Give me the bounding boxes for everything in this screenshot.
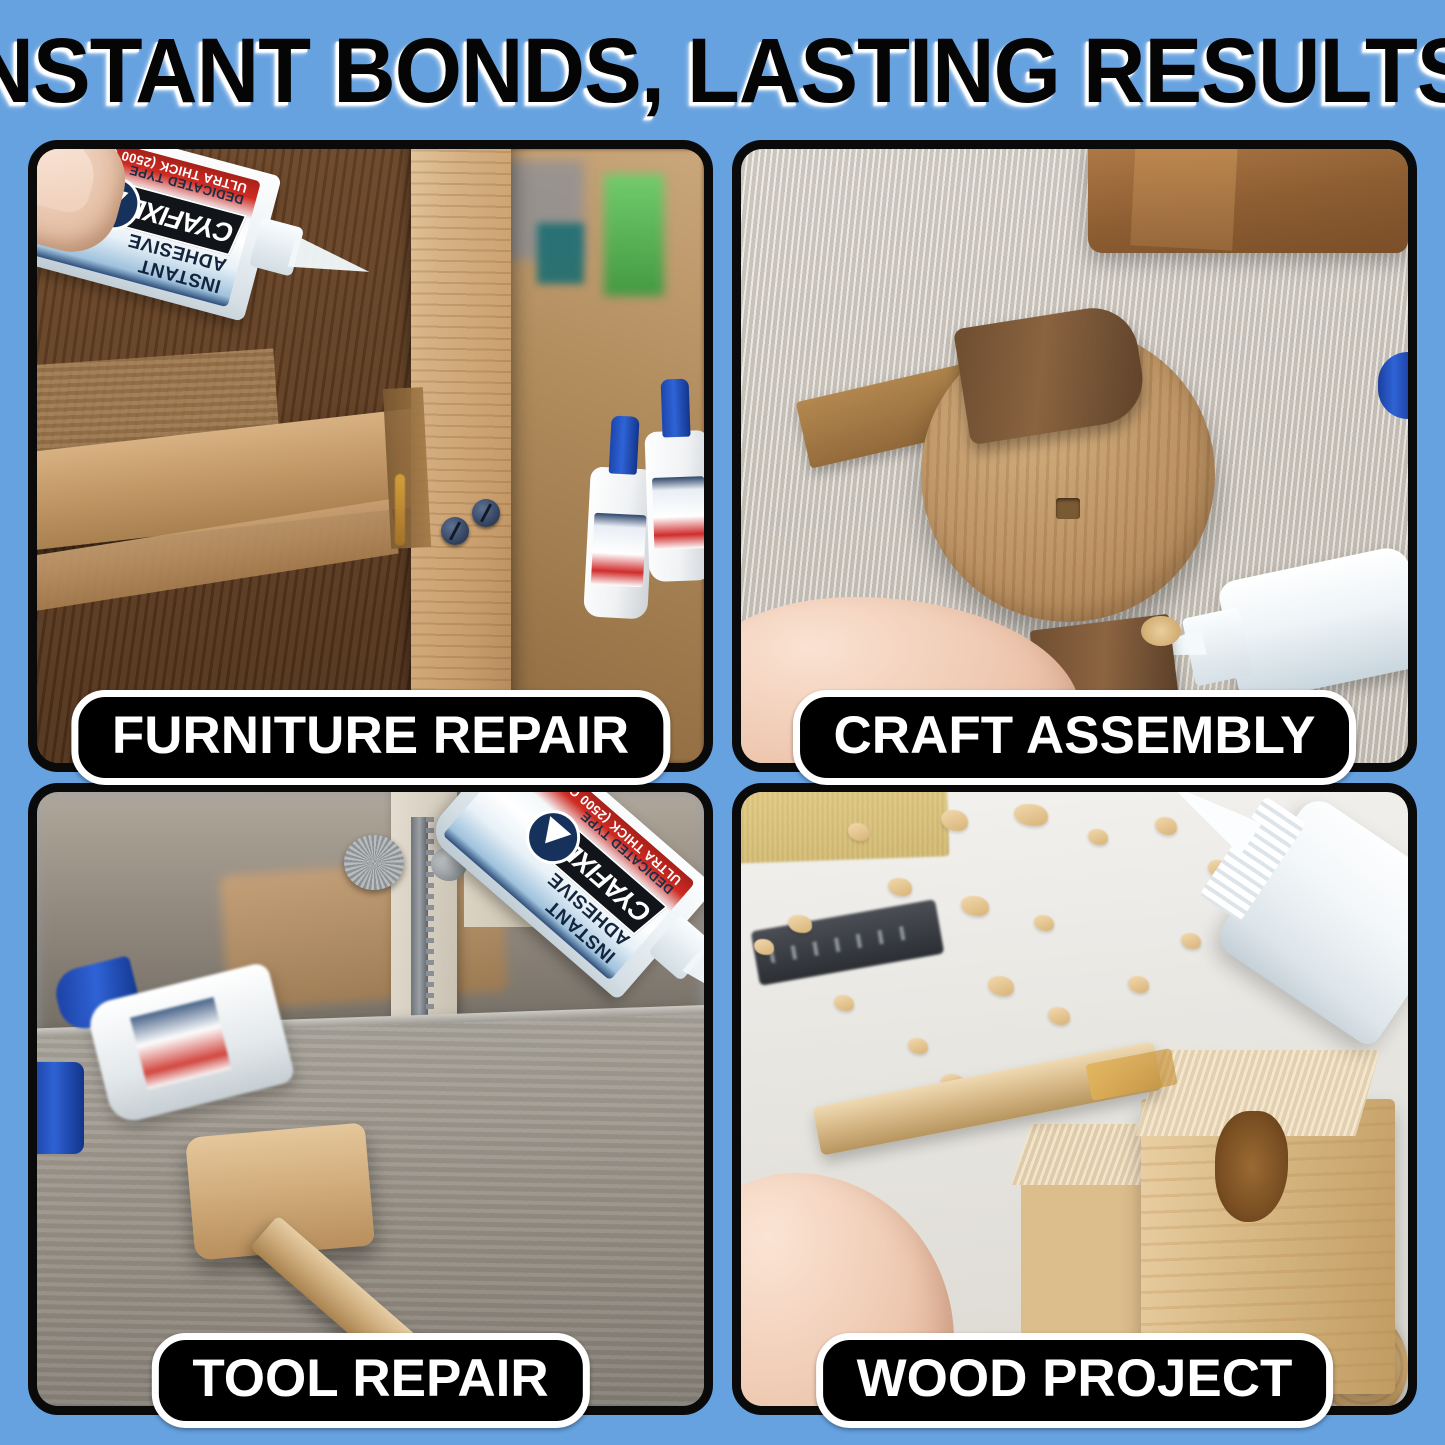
nozzle-tip bbox=[288, 236, 374, 288]
bottle-label bbox=[590, 513, 646, 588]
caption-pill-wood-project: WOOD PROJECT bbox=[816, 1333, 1334, 1428]
wood-shaving bbox=[961, 896, 989, 916]
wood-shaving bbox=[1048, 1007, 1071, 1025]
background-blur-green bbox=[604, 174, 664, 297]
bottle-body bbox=[1216, 544, 1408, 704]
blue-bottle-cap bbox=[1378, 352, 1408, 420]
nozzle-tip bbox=[1159, 792, 1261, 855]
wood-shaving bbox=[834, 995, 854, 1011]
ruler bbox=[751, 899, 945, 986]
glue-bottle bbox=[1114, 792, 1408, 1049]
bottle-label bbox=[652, 477, 704, 551]
caption-pill-craft-assembly: CRAFT ASSEMBLY bbox=[793, 690, 1357, 785]
wood-shaving bbox=[888, 878, 912, 896]
bottle-cap bbox=[608, 416, 639, 475]
wood-shaving bbox=[1034, 915, 1054, 931]
panel-furniture-repair[interactable]: INSTANT ADHESIVE CYAFIXED DEDICATED TYPE… bbox=[28, 140, 713, 772]
wood-shaving bbox=[1181, 933, 1201, 949]
shelf-bracket bbox=[383, 388, 431, 550]
disc-mortise bbox=[1056, 498, 1079, 519]
photo-craft-assembly bbox=[741, 149, 1408, 763]
wood-shaving bbox=[1128, 976, 1149, 993]
page-title: INSTANT BONDS, LASTING RESULTS. bbox=[0, 23, 1445, 119]
panel-tool-repair[interactable]: INSTANT ADHESIVE CYAFIXED DEDICATED TYPE… bbox=[28, 783, 713, 1415]
caption-label: TOOL REPAIR bbox=[192, 1349, 548, 1409]
thumbnail bbox=[37, 149, 102, 217]
wood-shaving bbox=[988, 976, 1015, 996]
glue-drip bbox=[395, 474, 405, 546]
caption-pill-furniture-repair: FURNITURE REPAIR bbox=[71, 690, 670, 785]
screw-head bbox=[472, 499, 500, 527]
blue-cap-left bbox=[37, 1062, 84, 1154]
photo-tool-repair: INSTANT ADHESIVE CYAFIXED DEDICATED TYPE… bbox=[37, 792, 704, 1406]
caption-label: WOOD PROJECT bbox=[857, 1349, 1293, 1409]
bottle-nozzle bbox=[247, 210, 378, 304]
wood-shaving bbox=[1014, 804, 1047, 826]
wood-shaving bbox=[908, 1038, 928, 1054]
caption-label: CRAFT ASSEMBLY bbox=[834, 706, 1316, 766]
background-blur-teal bbox=[537, 223, 584, 284]
photo-wood-project bbox=[741, 792, 1408, 1406]
caption-pill-tool-repair: TOOL REPAIR bbox=[151, 1333, 589, 1428]
wood-shaving bbox=[1088, 829, 1108, 845]
background-glue-bottle bbox=[644, 430, 704, 582]
sanding-block bbox=[741, 792, 949, 863]
background-glue-bottle bbox=[583, 467, 655, 620]
background-wood-blocks bbox=[1088, 149, 1408, 253]
photo-furniture-repair: INSTANT ADHESIVE CYAFIXED DEDICATED TYPE… bbox=[37, 149, 704, 763]
bottle-cap bbox=[660, 379, 690, 438]
caption-label: FURNITURE REPAIR bbox=[112, 706, 629, 766]
headline-banner: INSTANT BONDS, LASTING RESULTS. bbox=[0, 16, 1445, 126]
panel-wood-project[interactable]: WOOD PROJECT bbox=[732, 783, 1417, 1415]
feature-panel-grid: INSTANT ADHESIVE CYAFIXED DEDICATED TYPE… bbox=[28, 140, 1417, 1415]
adjustment-knob bbox=[344, 835, 404, 890]
panel-craft-assembly[interactable]: CRAFT ASSEMBLY bbox=[732, 140, 1417, 772]
